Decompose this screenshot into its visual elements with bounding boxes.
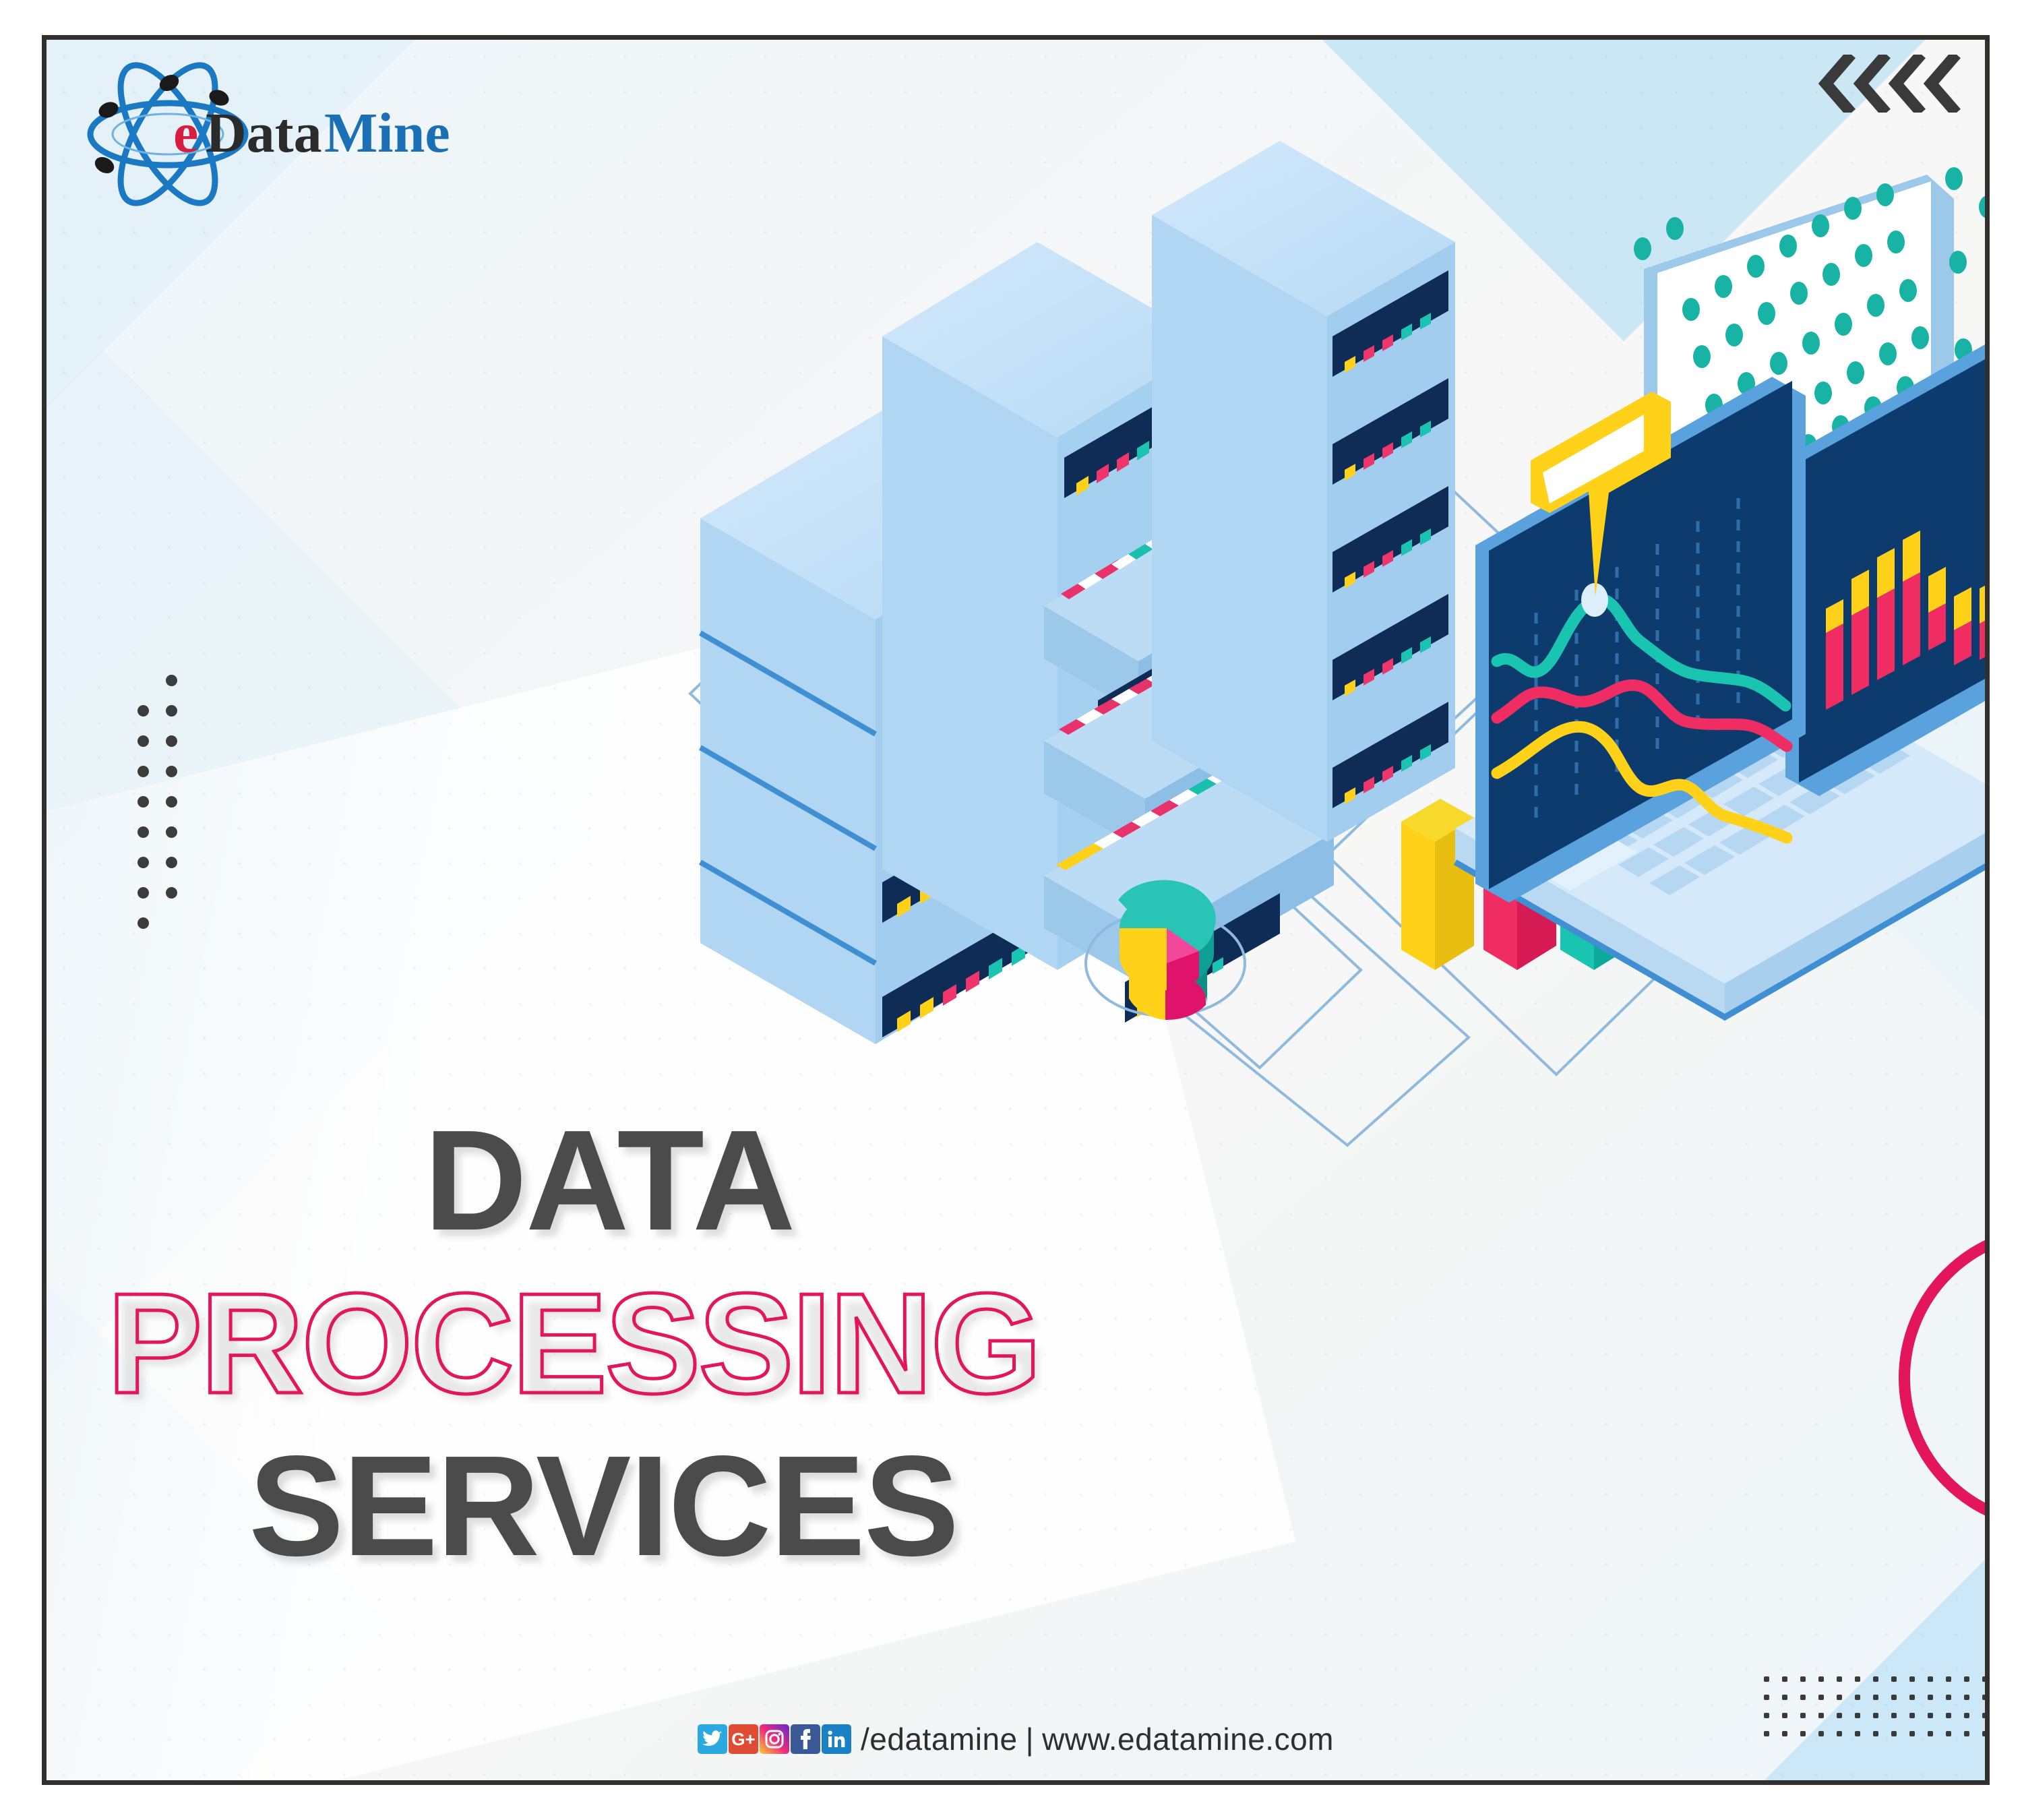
logo-word-data: Data [206, 102, 322, 164]
decor-dot-column [133, 667, 189, 940]
instagram-icon[interactable] [760, 1724, 789, 1754]
chevron-left-icon [1818, 55, 1857, 113]
chevron-left-icon [1923, 55, 1962, 113]
poster-canvas: e Data Mine [0, 0, 2022, 1820]
chevron-decoration [1822, 55, 1962, 113]
footer-website[interactable]: www.edatamine.com [1042, 1721, 1334, 1757]
server-rack-right [1152, 141, 1455, 842]
headline-line-processing: PROCESSING [47, 1275, 1327, 1412]
googleplus-icon[interactable]: G+ [729, 1724, 758, 1754]
chevron-left-icon [1853, 55, 1892, 113]
linkedin-icon[interactable] [822, 1724, 851, 1754]
social-icon-row: G+ [698, 1724, 851, 1754]
footer-handle[interactable]: /edatamine [861, 1721, 1018, 1757]
logo-letter-e: e [173, 102, 198, 164]
logo-word-mine: Mine [324, 102, 450, 164]
twitter-icon[interactable] [698, 1724, 727, 1754]
page-title: DATA PROCESSING SERVICES [47, 1112, 1327, 1575]
footer-bar: G+ [47, 1721, 1985, 1757]
brand-logo[interactable]: e Data Mine [73, 60, 505, 208]
decor-pink-circle [1899, 1225, 1990, 1531]
laptop-screen-lines [1475, 377, 1806, 903]
headline-line-data: DATA [47, 1112, 1327, 1249]
illustration-data-center [680, 141, 1990, 1165]
facebook-icon[interactable] [791, 1724, 820, 1754]
chart-datapoint [1581, 583, 1608, 617]
headline-line-services: SERVICES [47, 1437, 1327, 1575]
poster-frame: e Data Mine [42, 35, 1990, 1785]
chevron-left-icon [1888, 55, 1927, 113]
footer-separator: | [1026, 1721, 1034, 1757]
